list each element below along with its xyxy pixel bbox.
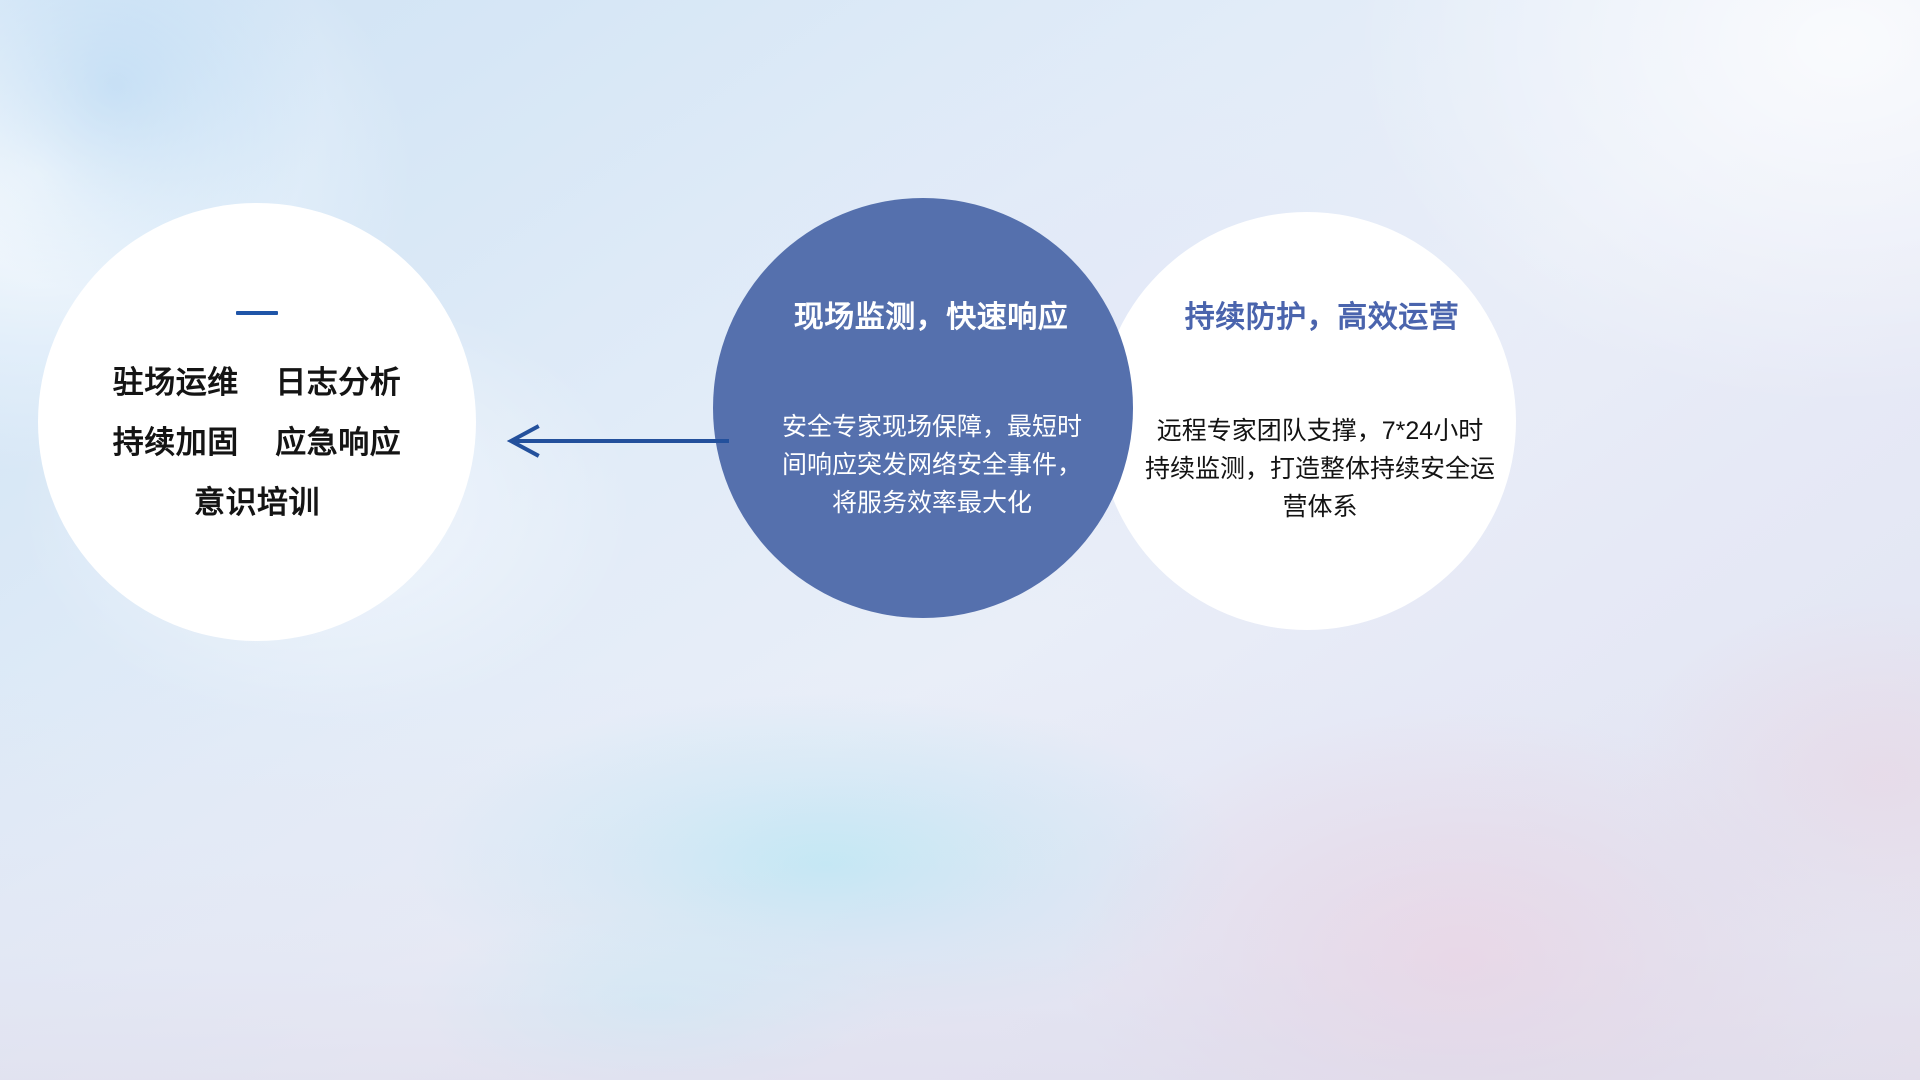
left-card-divider — [236, 311, 278, 315]
right-card: 持续防护，高效运营 远程专家团队支撑，7*24小时持续监测，打造整体持续安全运营… — [1098, 212, 1516, 630]
left-card-line-2: 持续加固 应急响应 — [113, 427, 401, 458]
middle-card-body: 安全专家现场保障，最短时间响应突发网络安全事件，将服务效率最大化 — [782, 408, 1082, 522]
left-card: 驻场运维 日志分析 持续加固 应急响应 意识培训 — [38, 203, 476, 641]
middle-card: 现场监测，快速响应 安全专家现场保障，最短时间响应突发网络安全事件，将服务效率最… — [713, 198, 1133, 618]
left-card-line-3: 意识培训 — [194, 487, 320, 518]
middle-card-title: 现场监测，快速响应 — [794, 292, 1069, 336]
left-card-line-1: 驻场运维 日志分析 — [113, 367, 401, 398]
right-card-title: 持续防护，高效运营 — [1185, 292, 1460, 336]
slide-canvas: 驻场运维 日志分析 持续加固 应急响应 意识培训 现场监测，快速响应 安全专家现… — [0, 0, 1920, 1080]
right-card-body: 远程专家团队支撑，7*24小时持续监测，打造整体持续安全运营体系 — [1145, 412, 1495, 526]
flow-arrow-icon — [495, 424, 730, 458]
